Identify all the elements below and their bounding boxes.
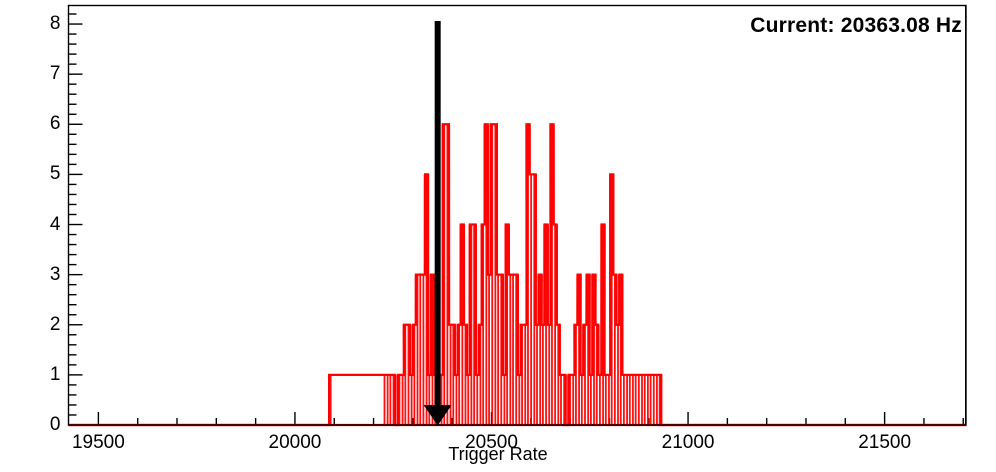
current-rate-readout: Current: 20363.08 Hz <box>750 14 962 38</box>
root-canvas: 012345678 1950020000205002100021500 Trig… <box>0 0 996 472</box>
y-tick-label: 3 <box>21 265 61 284</box>
y-tick-label: 7 <box>21 64 61 83</box>
y-tick-label: 8 <box>21 14 61 33</box>
y-tick-label: 0 <box>21 415 61 434</box>
plot-frame <box>68 5 966 425</box>
x-tick-label: 19500 <box>38 433 158 452</box>
y-tick-label: 5 <box>21 164 61 183</box>
y-tick-label: 6 <box>21 114 61 133</box>
x-tick-label: 21500 <box>825 433 945 452</box>
x-tick-label: 21000 <box>628 433 748 452</box>
y-tick-label: 2 <box>21 315 61 334</box>
y-tick-label: 4 <box>21 215 61 234</box>
x-tick-label: 20000 <box>235 433 355 452</box>
x-axis-title: Trigger Rate <box>398 444 598 465</box>
y-tick-label: 1 <box>21 365 61 384</box>
